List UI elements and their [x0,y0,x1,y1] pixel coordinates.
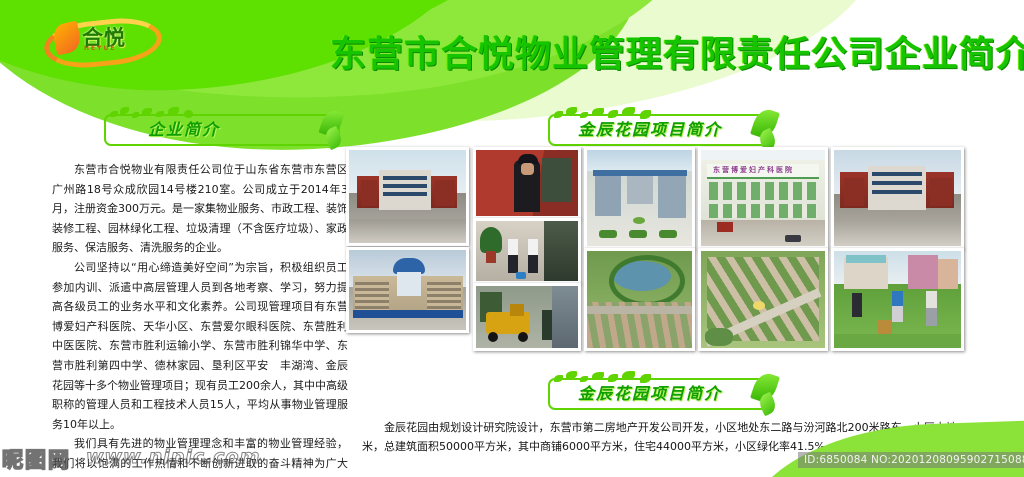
company-logo: 合悦 HEYUE [42,16,154,60]
photo-security-guard[interactable] [473,147,581,219]
photo-office-building-blue[interactable] [346,247,469,333]
company-paragraph-1: 东营市合悦物业有限责任公司位于山东省东营市东营区广州路18号众成欣园14号楼21… [52,160,348,258]
banner-project-bottom-label: 金辰花园项目简介 [578,380,722,404]
photo-aerial-lake[interactable] [584,248,695,351]
photo-greening-workers[interactable] [831,248,964,351]
company-paragraph-2: 公司坚持以“用心缔造美好空间”为宗旨，积极组织员工参加内训、派遣中高层管理人员到… [52,258,348,434]
photo-gallery: 东营博爱妇产科医院 [346,147,1010,362]
poster-canvas: 合悦 HEYUE 东营市合悦物业管理有限责任公司企业简介 企业简介 [0,0,1024,477]
banner-project-top-label: 金辰花园项目简介 [578,116,722,140]
photo-hospital-boai[interactable]: 东营博爱妇产科医院 [698,147,828,249]
watermark-id: ID:6850084 NO:20201208095902715088 [798,452,1024,468]
photo-school-redbrick-2[interactable] [831,147,964,249]
banner-company-profile: 企业简介 [104,108,344,144]
banner-project-top: 金辰花园项目简介 [548,108,808,144]
page-title: 东营市合悦物业管理有限责任公司企业简介 [330,28,998,82]
photo-cleaning-staff[interactable] [473,218,581,284]
hospital-sign-text: 东营博爱妇产科医院 [713,166,813,175]
banner-project-bottom: 金辰花园项目简介 [548,372,808,408]
photo-masterplan-aerial[interactable] [698,248,828,351]
photo-school-redbrick[interactable] [346,147,469,246]
watermark-site-cn: 昵图网 [2,444,71,474]
company-profile-text: 东营市合悦物业有限责任公司位于山东省东营市东营区广州路18号众成欣园14号楼21… [52,160,348,477]
photo-aerial-plaza[interactable] [584,147,695,249]
photo-municipal-truck[interactable] [473,283,581,351]
logo-english-name: HEYUE [84,45,116,52]
watermark-site-url: www.nipic.com [86,446,386,472]
banner-company-profile-label: 企业简介 [148,116,220,140]
